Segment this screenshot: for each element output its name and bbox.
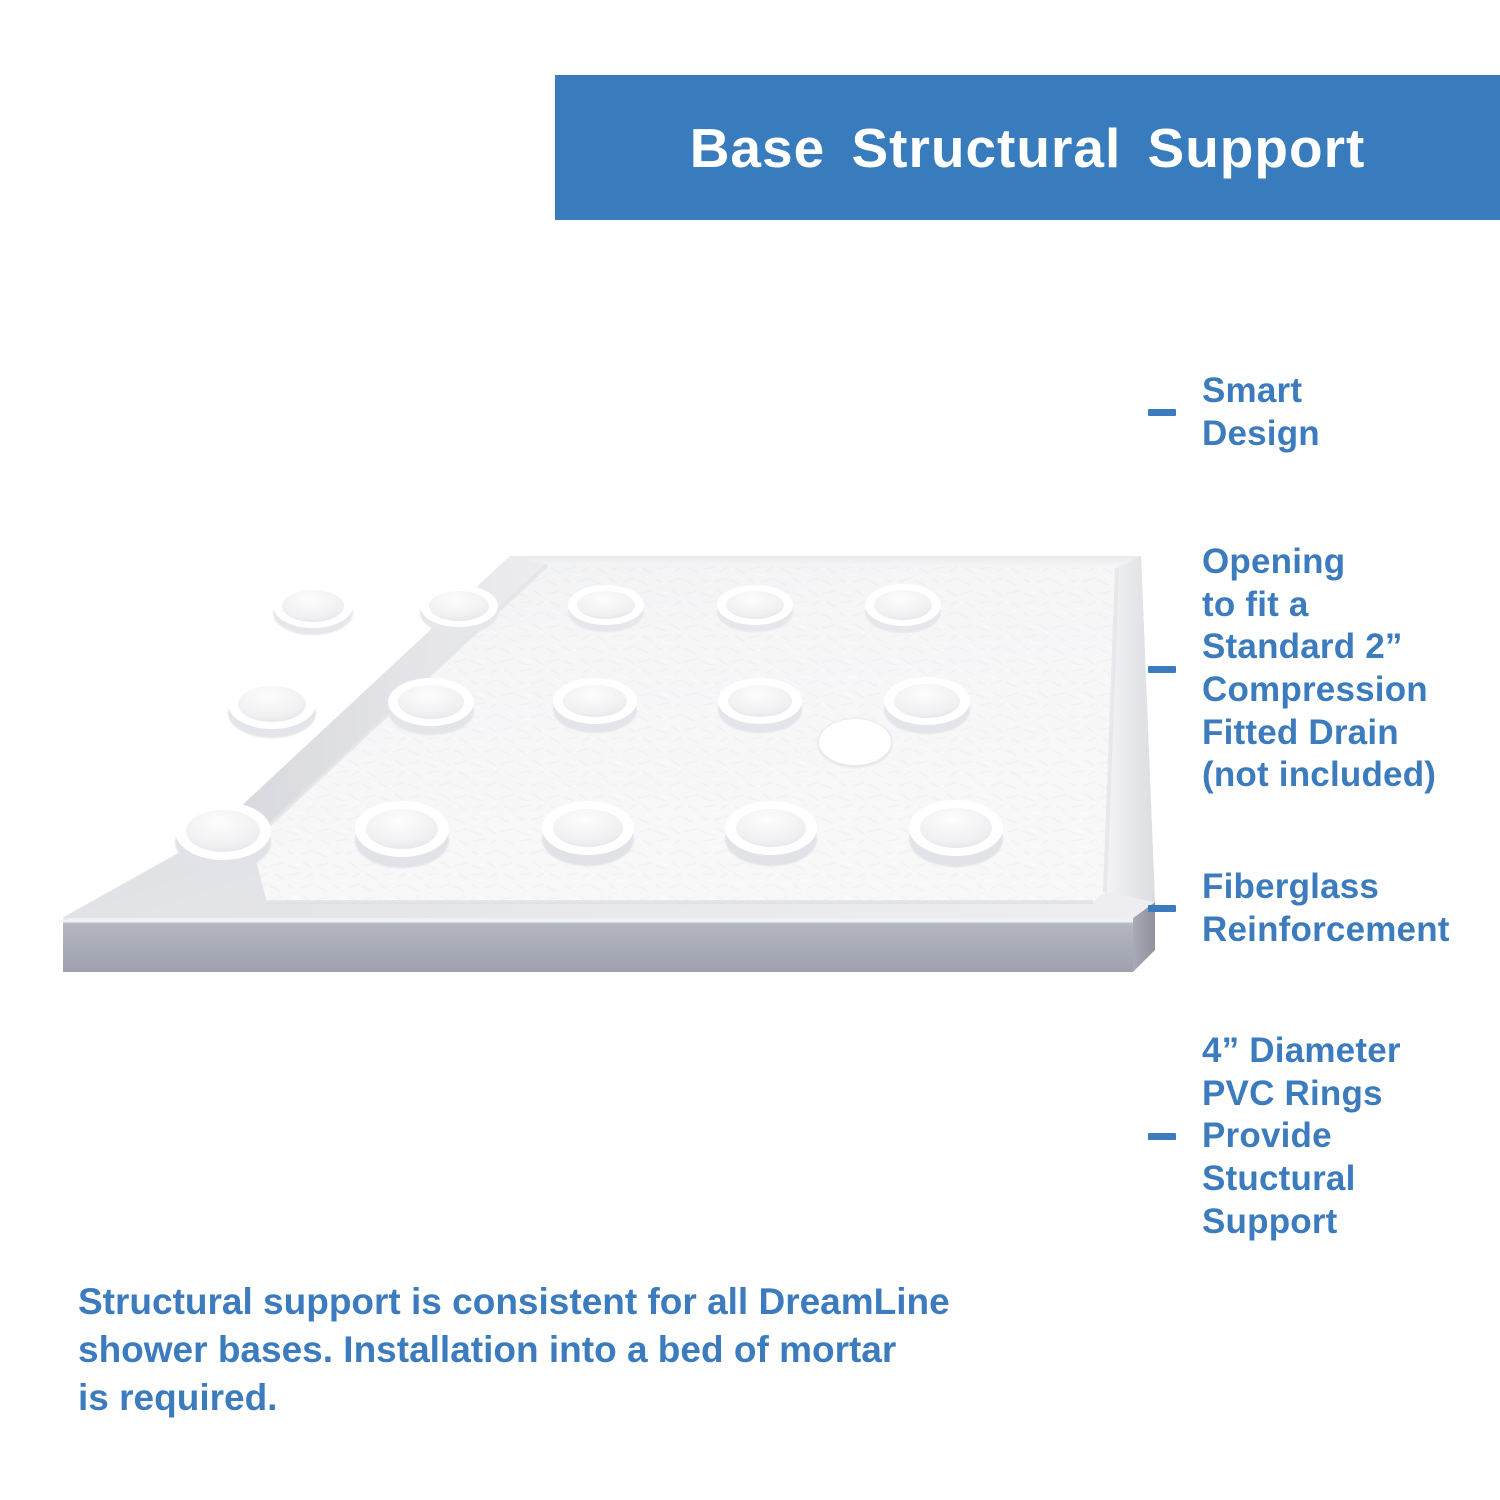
callout-smart-design: Smart Design (1148, 370, 1320, 455)
infographic-page: Base Structural Support (0, 0, 1500, 1500)
pvc-ring (865, 584, 941, 633)
pvc-ring (228, 679, 316, 738)
dash-icon (1148, 1133, 1176, 1140)
product-illustration (55, 520, 1160, 990)
pvc-ring (388, 678, 474, 735)
callout-fiberglass-label: Fiberglass Reinforcement (1202, 866, 1450, 951)
base-front-apron (63, 918, 1133, 972)
header-banner: Base Structural Support (555, 75, 1500, 220)
footer-note: Structural support is consistent for all… (78, 1278, 978, 1422)
pvc-ring (420, 585, 498, 634)
dash-icon (1148, 666, 1176, 673)
pvc-ring (568, 585, 644, 632)
pvc-ring (553, 678, 637, 733)
drain-opening (817, 718, 893, 768)
pvc-ring (175, 802, 271, 871)
pvc-ring (909, 800, 1003, 867)
callout-pvc-rings-label: 4” Diameter PVC Rings Provide Stuctural … (1202, 1030, 1401, 1243)
callout-pvc-rings: 4” Diameter PVC Rings Provide Stuctural … (1148, 1030, 1401, 1243)
pvc-ring (542, 801, 634, 866)
callout-fiberglass: Fiberglass Reinforcement (1148, 866, 1450, 951)
pvc-ring (717, 585, 793, 632)
dash-icon (1148, 409, 1176, 416)
callout-smart-design-label: Smart Design (1202, 370, 1320, 455)
callout-drain-opening: Opening to fit a Standard 2” Compression… (1148, 541, 1436, 797)
pvc-ring (273, 584, 353, 635)
page-title: Base Structural Support (690, 116, 1366, 180)
callout-drain-opening-label: Opening to fit a Standard 2” Compression… (1202, 541, 1436, 797)
pvc-ring (718, 678, 802, 733)
pvc-ring (355, 801, 449, 868)
shower-base-diagram (55, 520, 1160, 990)
dash-icon (1148, 905, 1176, 912)
pvc-ring (725, 801, 817, 866)
pvc-ring (884, 677, 970, 734)
